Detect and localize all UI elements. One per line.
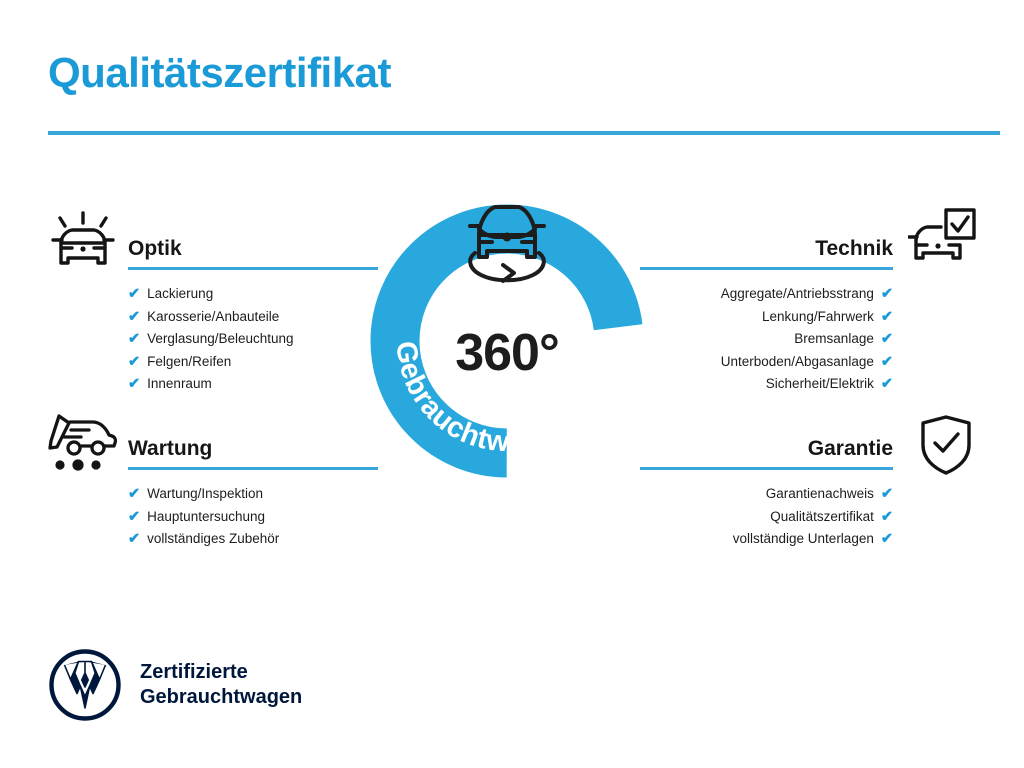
list-item: vollständige Unterlagen ✔ — [640, 528, 893, 551]
check-icon: ✔ — [128, 328, 140, 351]
section-technik-divider — [640, 267, 893, 270]
car-checkbox-icon — [908, 208, 976, 275]
car-shine-icon — [48, 208, 118, 279]
check-icon: ✔ — [881, 506, 893, 529]
shield-check-icon — [918, 414, 974, 481]
footer-logo-text: Zertifizierte Gebrauchtwagen — [140, 660, 302, 710]
section-technik-title: Technik — [640, 236, 893, 262]
list-item: ✔ Wartung/Inspektion — [128, 483, 378, 506]
title-divider — [48, 131, 1000, 135]
check-icon: ✔ — [128, 528, 140, 551]
check-icon: ✔ — [128, 283, 140, 306]
list-item-label: Felgen/Reifen — [147, 351, 231, 374]
check-icon: ✔ — [881, 283, 893, 306]
footer-logo: Zertifizierte Gebrauchtwagen — [48, 648, 302, 722]
check-icon: ✔ — [128, 506, 140, 529]
section-garantie-header: Garantie — [640, 436, 893, 470]
list-item: Bremsanlage ✔ — [640, 328, 893, 351]
list-item: Aggregate/Antriebsstrang ✔ — [640, 283, 893, 306]
list-item: ✔ Karosserie/Anbauteile — [128, 306, 378, 329]
check-icon: ✔ — [881, 351, 893, 374]
check-icon: ✔ — [881, 528, 893, 551]
check-icon: ✔ — [128, 306, 140, 329]
list-item: ✔ Hauptuntersuchung — [128, 506, 378, 529]
list-item-label: Karosserie/Anbauteile — [147, 306, 279, 329]
section-optik-title: Optik — [128, 236, 378, 262]
section-garantie-title: Garantie — [640, 436, 893, 462]
footer-line-2: Gebrauchtwagen — [140, 685, 302, 710]
section-technik-list: Aggregate/Antriebsstrang ✔ Lenkung/Fahrw… — [640, 283, 893, 396]
list-item: Unterboden/Abgasanlage ✔ — [640, 351, 893, 374]
list-item-label: Qualitätszertifikat — [770, 506, 874, 529]
section-garantie: Garantie Garantienachweis ✔ Qualitätszer… — [640, 436, 893, 551]
list-item: ✔ Felgen/Reifen — [128, 351, 378, 374]
list-item: Garantienachweis ✔ — [640, 483, 893, 506]
list-item-label: vollständiges Zubehör — [147, 528, 279, 551]
check-icon: ✔ — [128, 373, 140, 396]
list-item-label: Unterboden/Abgasanlage — [721, 351, 874, 374]
section-optik-divider — [128, 267, 378, 270]
section-garantie-list: Garantienachweis ✔ Qualitätszertifikat ✔… — [640, 483, 893, 551]
section-technik-header: Technik — [640, 236, 893, 270]
section-wartung-divider — [128, 467, 378, 470]
check-icon: ✔ — [881, 328, 893, 351]
list-item: Qualitätszertifikat ✔ — [640, 506, 893, 529]
footer-line-1: Zertifizierte — [140, 660, 302, 685]
section-wartung: Wartung ✔ Wartung/Inspektion ✔ Hauptunte… — [128, 436, 378, 551]
section-optik-list: ✔ Lackierung ✔ Karosserie/Anbauteile ✔ V… — [128, 283, 378, 396]
check-icon: ✔ — [128, 483, 140, 506]
list-item-label: Innenraum — [147, 373, 212, 396]
section-wartung-title: Wartung — [128, 436, 378, 462]
list-item-label: vollständige Unterlagen — [733, 528, 874, 551]
list-item: ✔ Innenraum — [128, 373, 378, 396]
section-garantie-divider — [640, 467, 893, 470]
check-icon: ✔ — [881, 483, 893, 506]
section-wartung-header: Wartung — [128, 436, 378, 470]
page-title: Qualitätszertifikat — [48, 52, 391, 94]
badge-360-gebrauchtwagen-check: Gebrauchtwagen-Check 360° — [366, 200, 648, 482]
list-item-label: Sicherheit/Elektrik — [766, 373, 874, 396]
vw-logo-icon — [48, 648, 122, 722]
list-item: ✔ vollständiges Zubehör — [128, 528, 378, 551]
list-item-label: Aggregate/Antriebsstrang — [721, 283, 874, 306]
certificate-page: Qualitätszertifikat — [0, 0, 1024, 768]
list-item-label: Hauptuntersuchung — [147, 506, 265, 529]
list-item-label: Wartung/Inspektion — [147, 483, 263, 506]
list-item-label: Garantienachweis — [766, 483, 874, 506]
section-wartung-list: ✔ Wartung/Inspektion ✔ Hauptuntersuchung… — [128, 483, 378, 551]
check-icon: ✔ — [128, 351, 140, 374]
list-item-label: Verglasung/Beleuchtung — [147, 328, 293, 351]
list-item-label: Bremsanlage — [794, 328, 874, 351]
list-item: ✔ Lackierung — [128, 283, 378, 306]
car-service-pencil-icon — [48, 412, 118, 481]
section-technik: Technik Aggregate/Antriebsstrang ✔ Lenku… — [640, 236, 893, 396]
list-item: ✔ Verglasung/Beleuchtung — [128, 328, 378, 351]
check-icon: ✔ — [881, 306, 893, 329]
list-item: Sicherheit/Elektrik ✔ — [640, 373, 893, 396]
list-item-label: Lackierung — [147, 283, 213, 306]
car-front-rotate-icon — [457, 197, 557, 289]
check-icon: ✔ — [881, 373, 893, 396]
section-optik-header: Optik — [128, 236, 378, 270]
list-item-label: Lenkung/Fahrwerk — [762, 306, 874, 329]
section-optik: Optik ✔ Lackierung ✔ Karosserie/Anbautei… — [128, 236, 378, 396]
list-item: Lenkung/Fahrwerk ✔ — [640, 306, 893, 329]
